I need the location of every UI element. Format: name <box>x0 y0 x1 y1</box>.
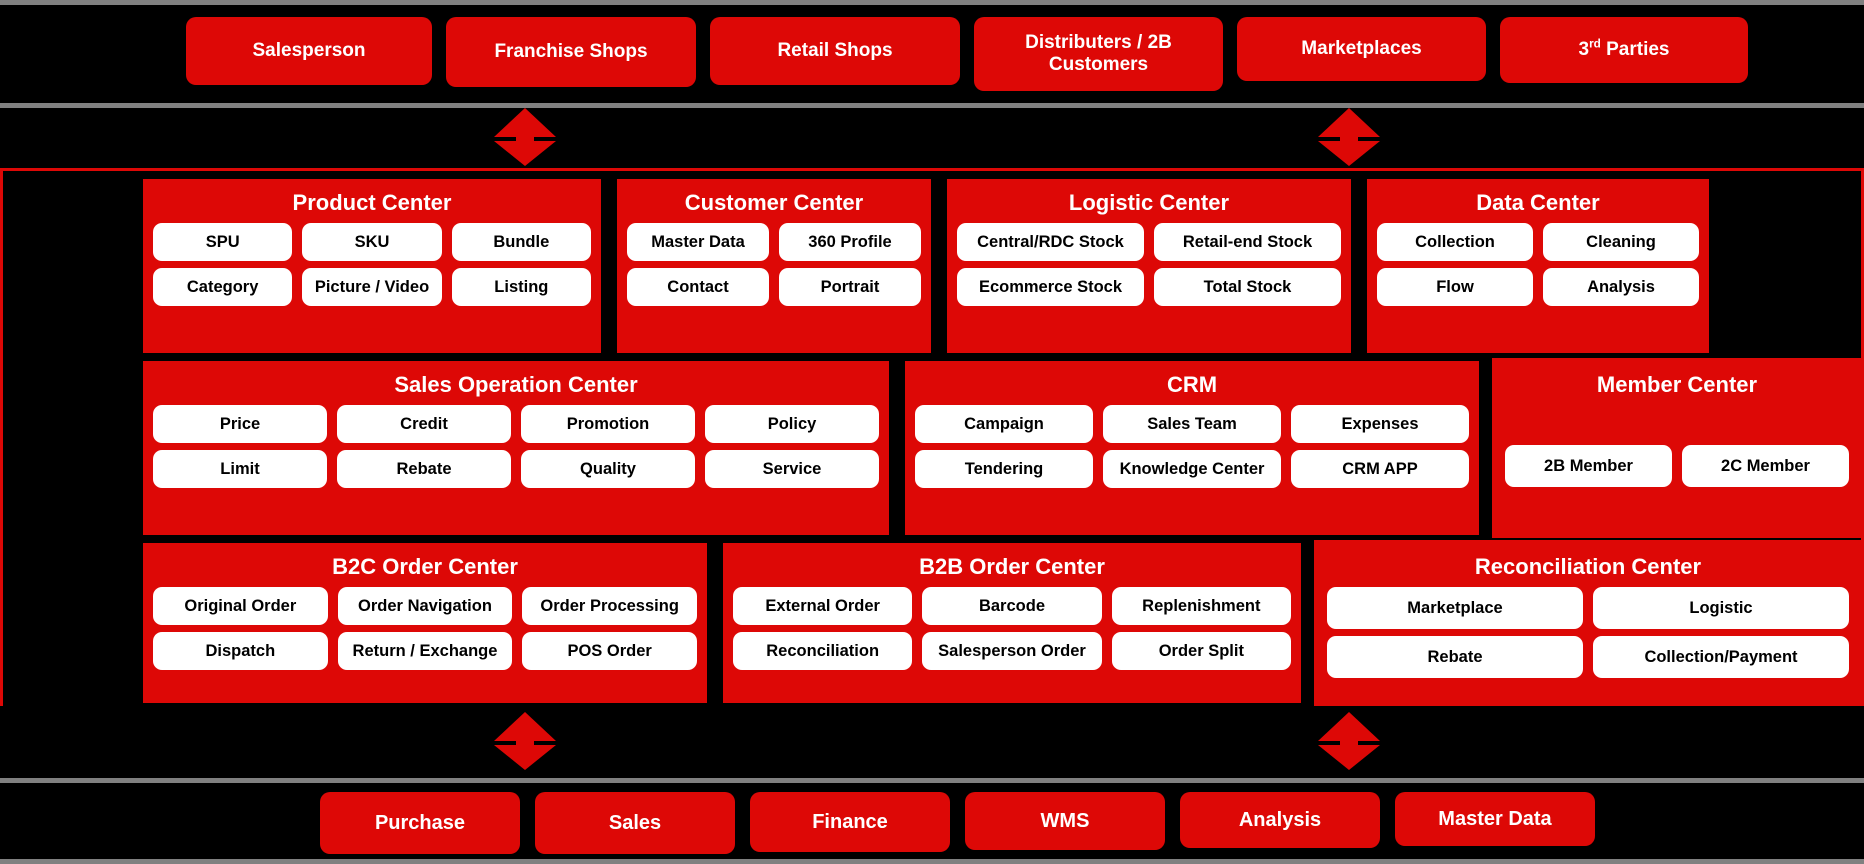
channel-chip-retail-shops[interactable]: Retail Shops <box>710 17 960 85</box>
platform-inner: Product Center SPU SKU Bundle Category P… <box>140 176 1862 706</box>
chip-tendering[interactable]: Tendering <box>915 450 1093 488</box>
chip-original-order[interactable]: Original Order <box>153 587 328 625</box>
chip-360-profile[interactable]: 360 Profile <box>779 223 921 261</box>
center-title: Member Center <box>1597 373 1757 397</box>
backend-chip-finance[interactable]: Finance <box>750 792 950 852</box>
channel-chip-distributers-2b-customers[interactable]: Distributers / 2B Customers <box>974 17 1223 91</box>
chip-central-rdc-stock[interactable]: Central/RDC Stock <box>957 223 1144 261</box>
chip-sku[interactable]: SKU <box>302 223 441 261</box>
center-title: CRM <box>1167 373 1217 397</box>
channels-row: Salesperson Franchise Shops Retail Shops… <box>186 17 1778 97</box>
channel-label-third-parties: 3rd Parties <box>1578 39 1669 61</box>
architecture-diagram: Salesperson Franchise Shops Retail Shops… <box>0 0 1864 864</box>
double-arrow-icon-top-left <box>494 108 556 166</box>
chip-credit[interactable]: Credit <box>337 405 511 443</box>
chip-order-split[interactable]: Order Split <box>1112 632 1291 670</box>
chip-spu[interactable]: SPU <box>153 223 292 261</box>
chip-listing[interactable]: Listing <box>452 268 591 306</box>
connector-strip-top <box>0 108 1864 168</box>
chip-contact[interactable]: Contact <box>627 268 769 306</box>
backend-label: Master Data <box>1438 808 1551 831</box>
chips-grid: 2B Member 2C Member <box>1505 405 1849 527</box>
chip-promotion[interactable]: Promotion <box>521 405 695 443</box>
backend-label: Analysis <box>1239 809 1321 832</box>
chip-external-order[interactable]: External Order <box>733 587 912 625</box>
center-card-reconciliation-center[interactable]: Reconciliation Center Marketplace Logist… <box>1314 540 1862 706</box>
chips-grid: Collection Cleaning Flow Analysis <box>1377 223 1699 345</box>
chip-ecommerce-stock[interactable]: Ecommerce Stock <box>957 268 1144 306</box>
center-card-logistic-center[interactable]: Logistic Center Central/RDC Stock Retail… <box>944 176 1354 356</box>
chips-grid: SPU SKU Bundle Category Picture / Video … <box>153 223 591 345</box>
platform-row-1: Product Center SPU SKU Bundle Category P… <box>140 176 1862 356</box>
backend-systems-band: Purchase Sales Finance WMS Analysis Mast… <box>0 778 1864 864</box>
center-card-crm[interactable]: CRM Campaign Sales Team Expenses Tenderi… <box>902 358 1482 538</box>
chip-price[interactable]: Price <box>153 405 327 443</box>
chips-grid: Original Order Order Navigation Order Pr… <box>153 587 697 695</box>
chips-grid: Central/RDC Stock Retail-end Stock Ecomm… <box>957 223 1341 345</box>
center-card-customer-center[interactable]: Customer Center Master Data 360 Profile … <box>614 176 934 356</box>
chip-sales-team[interactable]: Sales Team <box>1103 405 1281 443</box>
chip-policy[interactable]: Policy <box>705 405 879 443</box>
chip-logistic[interactable]: Logistic <box>1593 587 1849 629</box>
chip-crm-app[interactable]: CRM APP <box>1291 450 1469 488</box>
chip-flow[interactable]: Flow <box>1377 268 1533 306</box>
chip-portrait[interactable]: Portrait <box>779 268 921 306</box>
chip-marketplace[interactable]: Marketplace <box>1327 587 1583 629</box>
chip-limit[interactable]: Limit <box>153 450 327 488</box>
channel-chip-marketplaces[interactable]: Marketplaces <box>1237 17 1486 81</box>
chip-knowledge-center[interactable]: Knowledge Center <box>1103 450 1281 488</box>
chip-order-navigation[interactable]: Order Navigation <box>338 587 513 625</box>
center-card-b2b-order-center[interactable]: B2B Order Center External Order Barcode … <box>720 540 1304 706</box>
chip-campaign[interactable]: Campaign <box>915 405 1093 443</box>
chip-reconciliation[interactable]: Reconciliation <box>733 632 912 670</box>
channel-label: Distributers / 2B Customers <box>980 32 1217 76</box>
ordinal-suffix: rd <box>1589 38 1601 51</box>
backend-chip-wms[interactable]: WMS <box>965 792 1165 850</box>
center-title: Customer Center <box>685 191 863 215</box>
channel-label: Salesperson <box>253 40 366 62</box>
chip-order-processing[interactable]: Order Processing <box>522 587 697 625</box>
chip-expenses[interactable]: Expenses <box>1291 405 1469 443</box>
chip-return-exchange[interactable]: Return / Exchange <box>338 632 513 670</box>
channel-chip-franchise-shops[interactable]: Franchise Shops <box>446 17 696 87</box>
backend-row: Purchase Sales Finance WMS Analysis Mast… <box>320 792 1690 858</box>
double-arrow-icon-top-right <box>1318 108 1380 166</box>
channel-chip-salesperson[interactable]: Salesperson <box>186 17 432 85</box>
chip-picture-video[interactable]: Picture / Video <box>302 268 441 306</box>
center-title: Product Center <box>293 191 452 215</box>
backend-chip-purchase[interactable]: Purchase <box>320 792 520 854</box>
center-title: B2B Order Center <box>919 555 1105 579</box>
chip-salesperson-order[interactable]: Salesperson Order <box>922 632 1101 670</box>
chip-analysis[interactable]: Analysis <box>1543 268 1699 306</box>
backend-label: WMS <box>1041 810 1090 833</box>
chip-dispatch[interactable]: Dispatch <box>153 632 328 670</box>
chips-grid: Campaign Sales Team Expenses Tendering K… <box>915 405 1469 527</box>
platform-frame: Product Center SPU SKU Bundle Category P… <box>0 168 1864 710</box>
platform-row-2: Sales Operation Center Price Credit Prom… <box>140 358 1862 538</box>
center-card-product-center[interactable]: Product Center SPU SKU Bundle Category P… <box>140 176 604 356</box>
connector-strip-bottom <box>0 706 1864 778</box>
chip-replenishment[interactable]: Replenishment <box>1112 587 1291 625</box>
center-title: Logistic Center <box>1069 191 1229 215</box>
chip-cleaning[interactable]: Cleaning <box>1543 223 1699 261</box>
channel-label: Franchise Shops <box>494 41 647 63</box>
backend-label: Finance <box>812 811 888 834</box>
chips-grid: External Order Barcode Replenishment Rec… <box>733 587 1291 695</box>
chip-2b-member[interactable]: 2B Member <box>1505 445 1672 487</box>
channel-label: Marketplaces <box>1301 38 1421 60</box>
backend-label: Sales <box>609 812 661 835</box>
chip-master-data[interactable]: Master Data <box>627 223 769 261</box>
center-title: Sales Operation Center <box>394 373 637 397</box>
chip-2c-member[interactable]: 2C Member <box>1682 445 1849 487</box>
chip-retail-end-stock[interactable]: Retail-end Stock <box>1154 223 1341 261</box>
backend-chip-analysis[interactable]: Analysis <box>1180 792 1380 848</box>
platform-row-3: B2C Order Center Original Order Order Na… <box>140 540 1862 706</box>
center-card-member-center[interactable]: Member Center 2B Member 2C Member <box>1492 358 1862 538</box>
center-title: B2C Order Center <box>332 555 518 579</box>
center-title: Data Center <box>1476 191 1599 215</box>
center-card-b2c-order-center[interactable]: B2C Order Center Original Order Order Na… <box>140 540 710 706</box>
chip-rebate-recon[interactable]: Rebate <box>1327 636 1583 678</box>
chip-barcode[interactable]: Barcode <box>922 587 1101 625</box>
chip-collection-payment[interactable]: Collection/Payment <box>1593 636 1849 678</box>
channels-band: Salesperson Franchise Shops Retail Shops… <box>0 0 1864 108</box>
channel-label: Retail Shops <box>777 40 892 62</box>
chip-pos-order[interactable]: POS Order <box>522 632 697 670</box>
chip-quality[interactable]: Quality <box>521 450 695 488</box>
double-arrow-icon-bottom-left <box>494 712 556 770</box>
center-title: Reconciliation Center <box>1475 555 1701 579</box>
chip-category[interactable]: Category <box>153 268 292 306</box>
chip-rebate[interactable]: Rebate <box>337 450 511 488</box>
chips-grid: Marketplace Logistic Rebate Collection/P… <box>1327 587 1849 695</box>
chips-grid: Price Credit Promotion Policy Limit Reba… <box>153 405 879 527</box>
chip-bundle[interactable]: Bundle <box>452 223 591 261</box>
backend-chip-master-data[interactable]: Master Data <box>1395 792 1595 846</box>
chip-total-stock[interactable]: Total Stock <box>1154 268 1341 306</box>
channel-chip-third-parties[interactable]: 3rd Parties <box>1500 17 1748 83</box>
center-card-data-center[interactable]: Data Center Collection Cleaning Flow Ana… <box>1364 176 1712 356</box>
backend-label: Purchase <box>375 812 465 835</box>
chip-collection[interactable]: Collection <box>1377 223 1533 261</box>
chip-service[interactable]: Service <box>705 450 879 488</box>
backend-chip-sales[interactable]: Sales <box>535 792 735 854</box>
center-card-sales-operation-center[interactable]: Sales Operation Center Price Credit Prom… <box>140 358 892 538</box>
double-arrow-icon-bottom-right <box>1318 712 1380 770</box>
chips-grid: Master Data 360 Profile Contact Portrait <box>627 223 921 345</box>
